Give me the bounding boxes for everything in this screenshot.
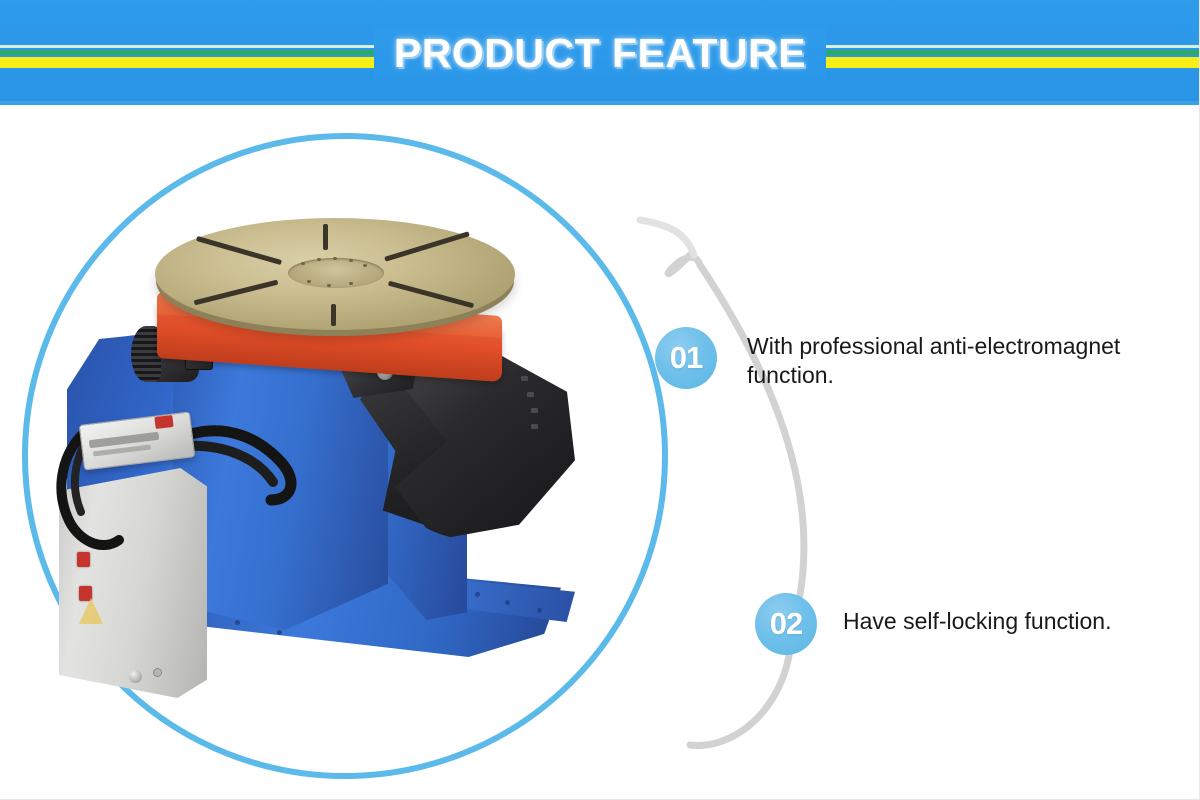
product-illustration [45, 200, 640, 720]
page-title: PRODUCT FEATURE [0, 30, 1200, 77]
feature-text-01: With professional anti-electromagnet fun… [747, 327, 1177, 391]
feature-item-01: 01 With professional anti-electromagnet … [655, 327, 1177, 391]
feature-badge-01: 01 [655, 327, 717, 389]
feature-item-02: 02 Have self-locking function. [755, 593, 1183, 655]
feature-text-02: Have self-locking function. [843, 593, 1183, 636]
pendant-button-red[interactable] [154, 415, 173, 429]
product-feature-page: PRODUCT FEATURE [0, 0, 1200, 800]
feature-badge-02: 02 [755, 593, 817, 655]
header-banner: PRODUCT FEATURE [0, 0, 1200, 105]
content-area: 01 With professional anti-electromagnet … [0, 105, 1200, 800]
